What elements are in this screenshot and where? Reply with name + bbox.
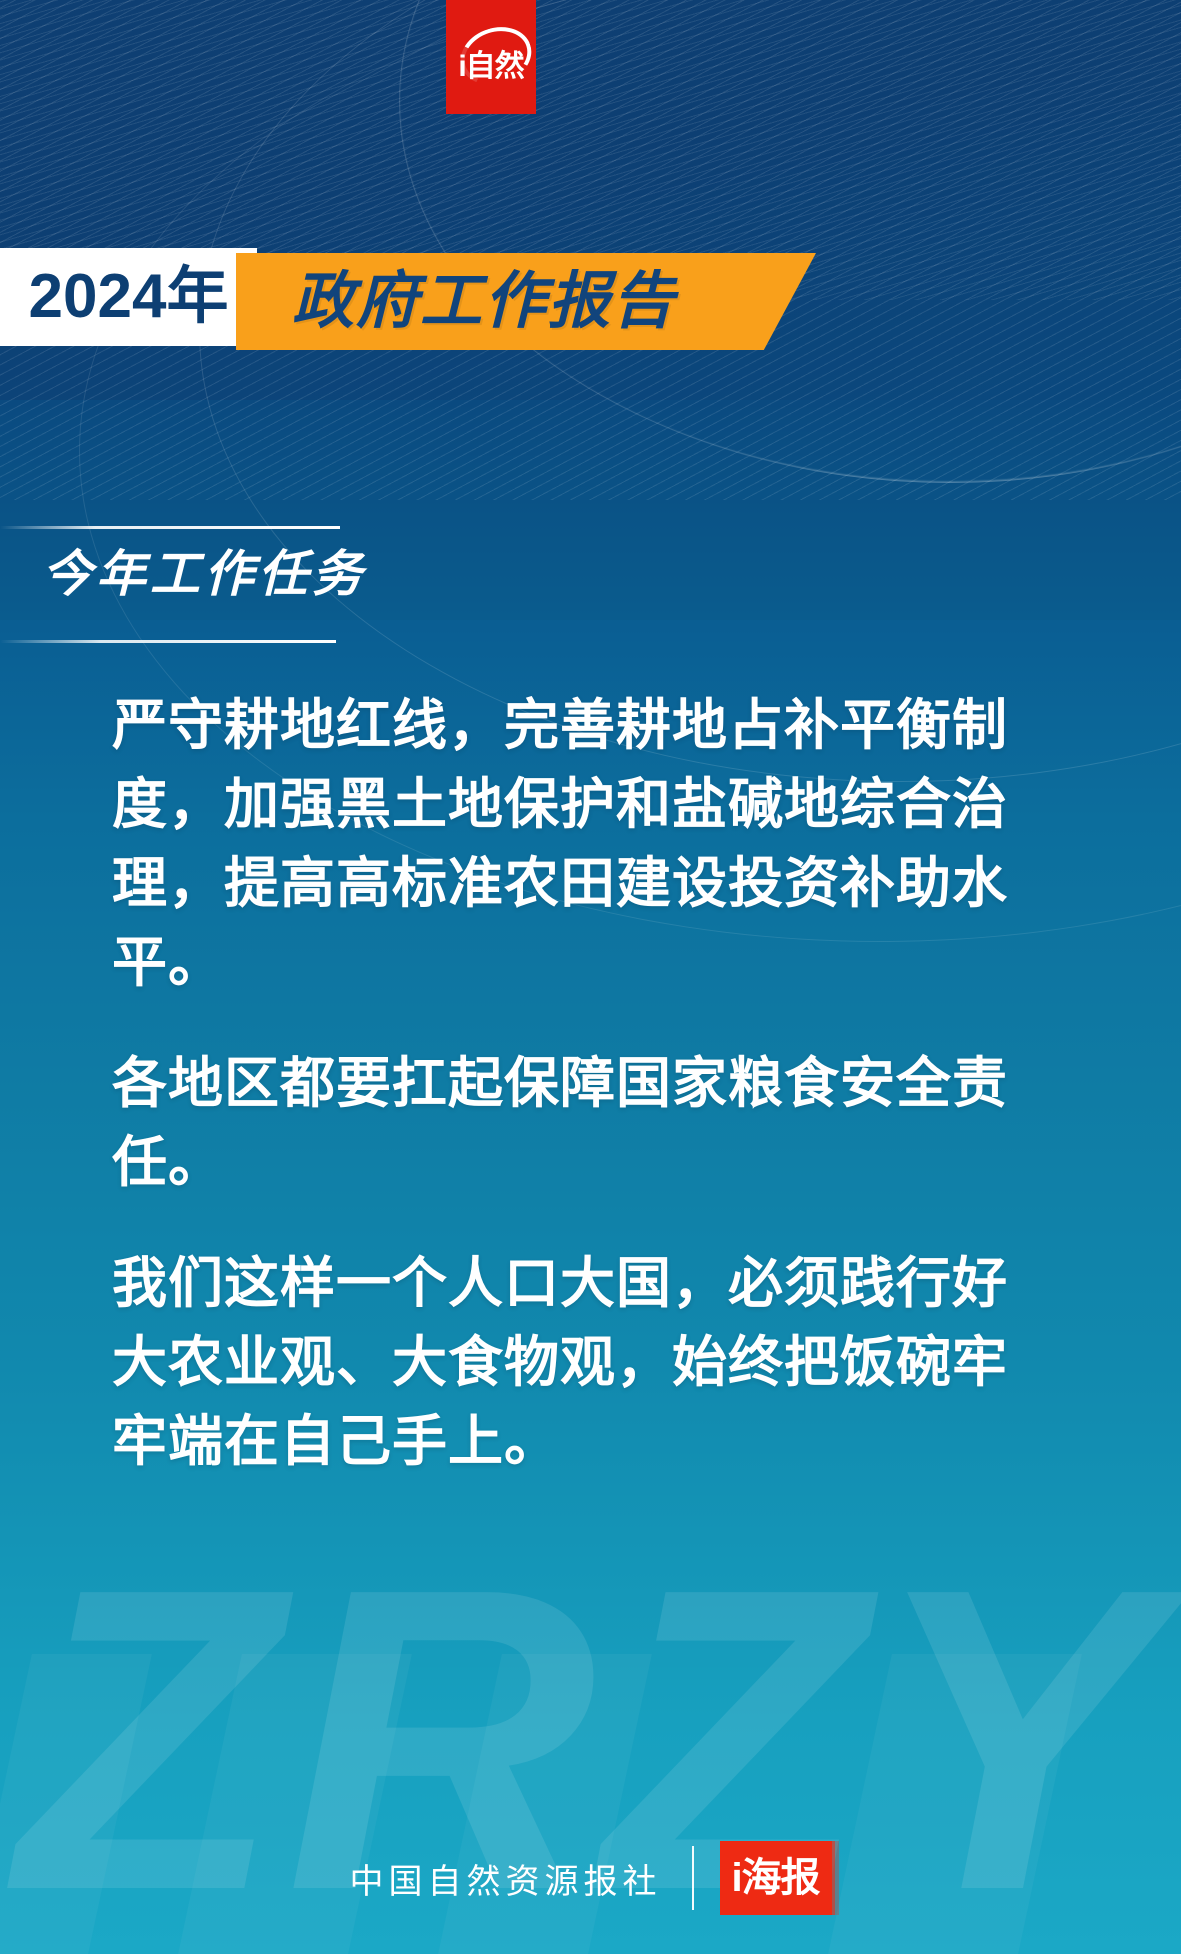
ihaibao-badge-label: i海报	[731, 1857, 819, 1899]
report-title-banner: 政府工作报告	[236, 253, 816, 350]
paragraph: 各地区都要扛起保障国家粮食安全责任。	[112, 1044, 1057, 1202]
izhiran-logo: i自然	[446, 0, 536, 114]
paragraph: 严守耕地红线，完善耕地占补平衡制度，加强黑土地保护和盐碱地综合治理，提高高标准农…	[112, 686, 1057, 1002]
report-title-label: 政府工作报告	[292, 270, 676, 334]
ihaibao-badge: i海报	[720, 1841, 832, 1915]
paragraph: 我们这样一个人口大国，必须践行好大农业观、大食物观，始终把饭碗牢牢端在自己手上。	[112, 1244, 1057, 1481]
year-label: 2024年	[29, 266, 229, 328]
footer-divider	[692, 1846, 694, 1910]
section-title-label: 今年工作任务	[42, 546, 366, 602]
publisher-label: 中国自然资源报社	[350, 1854, 662, 1903]
year-badge: 2024年	[0, 248, 257, 346]
body-content: 严守耕地红线，完善耕地占补平衡制度，加强黑土地保护和盐碱地综合治理，提高高标准农…	[112, 686, 1057, 1523]
section-rule-bottom	[0, 640, 336, 643]
logo-label: i自然	[446, 52, 536, 82]
section-rule-top	[0, 526, 340, 529]
poster-canvas: ZRZY i自然 2024年 政府工作报告 今年工作任务 严守耕地红线，完善耕地…	[0, 0, 1181, 1954]
background-top-navy	[0, 0, 1181, 430]
footer-bar: 中国自然资源报社 i海报	[0, 1838, 1181, 1918]
